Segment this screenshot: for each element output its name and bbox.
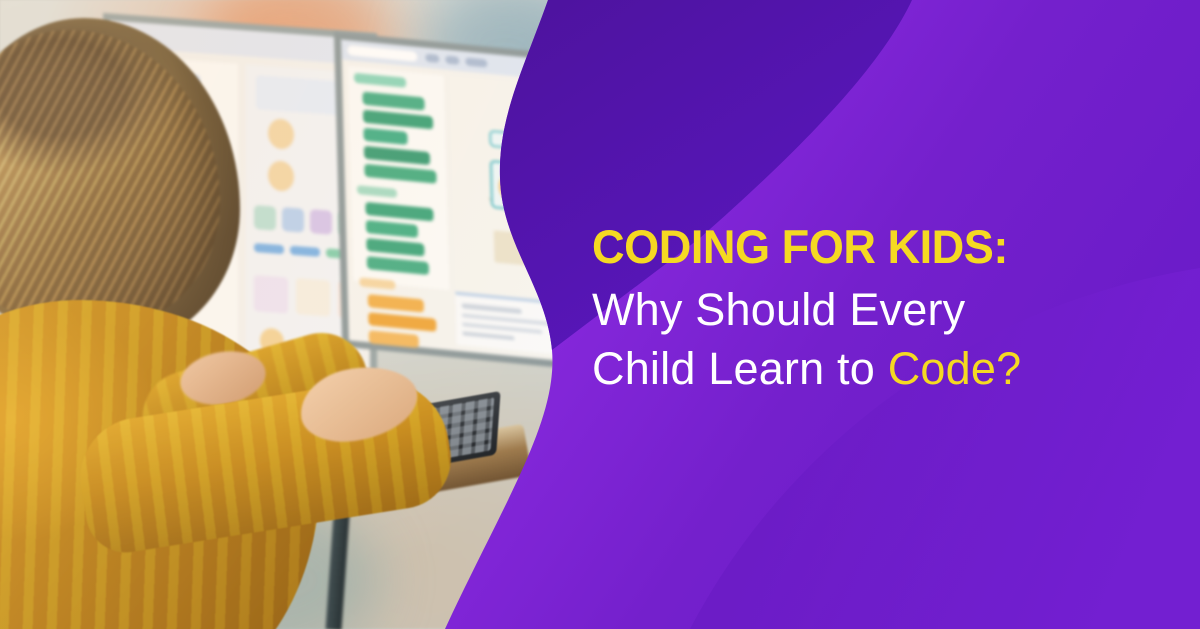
headline-line-1: CODING FOR KIDS: <box>592 222 1168 271</box>
headline-line-3-prefix: Child Learn to <box>592 343 888 394</box>
headline-line-3: Child Learn to Code? <box>592 340 1192 399</box>
headline-block: CODING FOR KIDS: Why Should Every Child … <box>592 222 1192 398</box>
headline-line-2: Why Should Every <box>592 281 1192 340</box>
headline-accent-code: Code? <box>888 343 1022 394</box>
coding-for-kids-banner: CODING FOR KIDS: Why Should Every Child … <box>0 0 1200 629</box>
